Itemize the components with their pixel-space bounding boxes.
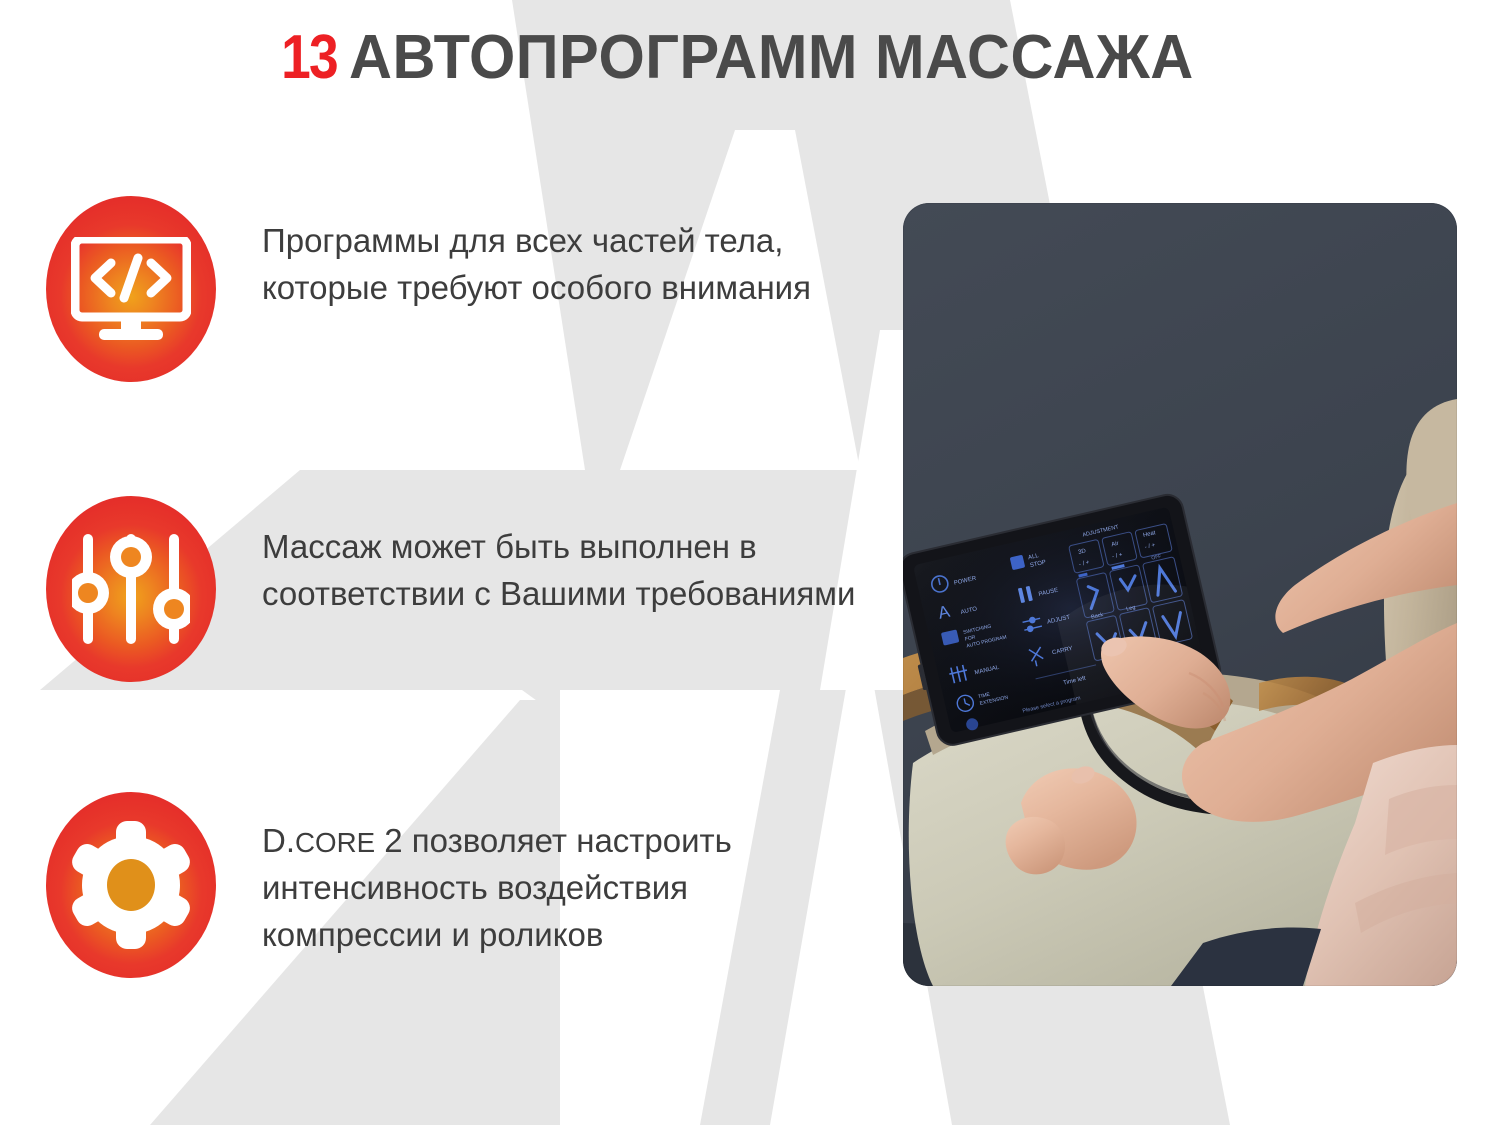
- feature-item: Программы для всех частей тела, которые …: [46, 196, 876, 496]
- massage-chair-tablet-remote-photo: POWER A AUTO SWITCHING FOR AUTO PROGRAM …: [903, 203, 1457, 986]
- feature-item: Массаж может быть выполнен в соответстви…: [46, 496, 876, 792]
- feature-list: Программы для всех частей тела, которые …: [46, 196, 876, 1088]
- title-number: 13: [281, 22, 337, 93]
- infographic-slide: 13АВТОПРОГРАММ МАССАЖА: [0, 0, 1500, 1125]
- feature-text: Программы для всех частей тела, которые …: [216, 196, 876, 312]
- feature-text: Массаж может быть выполнен в соответстви…: [216, 496, 876, 618]
- sliders-icon: [46, 496, 216, 682]
- page-title: 13АВТОПРОГРАММ МАССАЖА: [0, 22, 1500, 93]
- gear-icon: [46, 792, 216, 978]
- feature-text: D.CORE 2 позволяет настроить интенсивнос…: [216, 792, 876, 959]
- brand-core-smallcaps: CORE: [295, 827, 375, 858]
- feature-item: D.CORE 2 позволяет настроить интенсивнос…: [46, 792, 876, 1088]
- title-text: АВТОПРОГРАММ МАССАЖА: [349, 22, 1194, 93]
- brand-dcore: D.CORE: [262, 822, 375, 859]
- monitor-code-icon: [46, 196, 216, 382]
